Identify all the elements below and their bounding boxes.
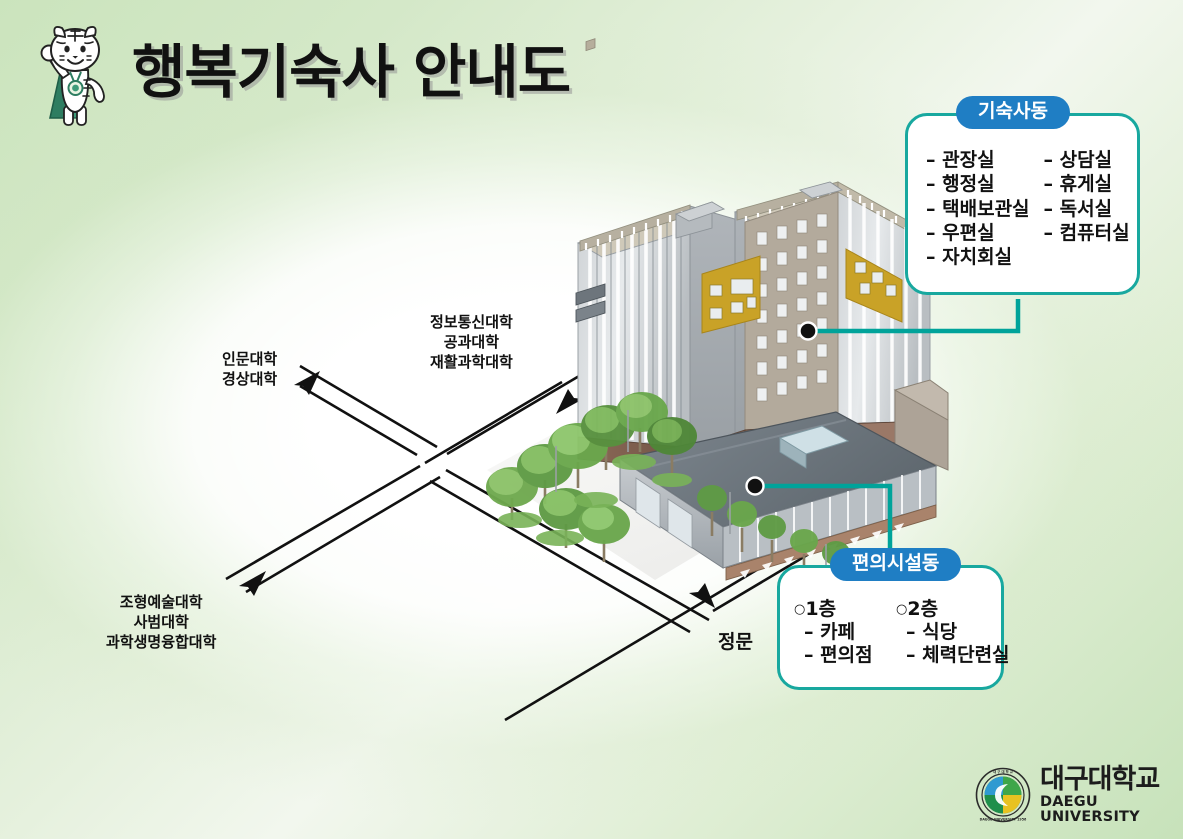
svg-text:대 구 대 학 교: 대 구 대 학 교: [993, 769, 1013, 774]
facility-callout-box: 편의시설동 1층 카페 편의점 2층 식당 체력단련실: [777, 565, 1004, 690]
arrow-northwest: [294, 371, 320, 395]
list-item: 행정실: [926, 172, 1030, 196]
road-label-line: 사범대학: [106, 613, 216, 633]
facility-callout-title: 편의시설동: [830, 548, 961, 581]
list-item: 컴퓨터실: [1044, 221, 1130, 245]
list-item: 상담실: [1044, 148, 1130, 172]
dormitory-callout-title: 기숙사동: [956, 96, 1070, 129]
list-item: 편의점: [804, 644, 890, 667]
svg-text:DAEGU UNIVERSITY 1956: DAEGU UNIVERSITY 1956: [980, 817, 1027, 821]
road-label-line: 과학생명융합대학: [106, 633, 216, 653]
road-label-line: 정보통신대학: [430, 313, 513, 333]
dormitory-facility-list-column-1: 관장실 행정실 택배보관실 우편실 자치회실: [926, 148, 1030, 270]
dormitory-facility-list-column-2: 상담실 휴게실 독서실 컴퓨터실: [1044, 148, 1130, 270]
road-label-left-bottom: 조형예술대학 사범대학 과학생명융합대학: [106, 593, 216, 652]
road-label-line: 경상대학: [222, 370, 277, 390]
list-item: 체력단련실: [906, 644, 1001, 667]
list-item: 휴게실: [1044, 172, 1130, 196]
road-label-line: 재활과학대학: [430, 353, 513, 373]
list-item: 카페: [804, 621, 890, 644]
facility-floor-group-1: 1층 카페 편의점: [794, 598, 890, 667]
dormitory-tower-building: [576, 39, 930, 448]
main-gate-label: 정문: [718, 627, 753, 654]
facility-floor-group-2: 2층 식당 체력단련실: [896, 598, 1001, 667]
university-logo: 대 구 대 학 교 DAEGU UNIVERSITY 1956 대구대학교 DA…: [975, 766, 1183, 824]
list-item: 택배보관실: [926, 197, 1030, 221]
daegu-university-emblem-icon: 대 구 대 학 교 DAEGU UNIVERSITY 1956: [975, 767, 1031, 823]
list-item: 독서실: [1044, 197, 1130, 221]
facility-marker-dot: [747, 478, 764, 495]
list-item: 우편실: [926, 221, 1030, 245]
road-label-line: 인문대학: [222, 350, 277, 370]
road-label-top-mid: 정보통신대학 공과대학 재활과학대학: [430, 313, 513, 372]
logo-english-name: DAEGU UNIVERSITY: [1040, 795, 1183, 824]
facility-floor-label: 1층: [794, 598, 890, 621]
dorm-marker-dot: [800, 323, 817, 340]
road-label-left-top: 인문대학 경상대학: [222, 350, 277, 390]
poster-root: 행복기숙사 안내도: [0, 0, 1183, 839]
dormitory-callout-box: 기숙사동 관장실 행정실 택배보관실 우편실 자치회실 상담실 휴게실 독서실 …: [905, 113, 1140, 295]
list-item: 자치회실: [926, 245, 1030, 269]
list-item: 식당: [906, 621, 1001, 644]
list-item: 관장실: [926, 148, 1030, 172]
road-label-line: 공과대학: [430, 333, 513, 353]
facility-floor-label: 2층: [896, 598, 1001, 621]
road-label-line: 조형예술대학: [106, 593, 216, 613]
logo-korean-name: 대구대학교: [1040, 766, 1183, 793]
